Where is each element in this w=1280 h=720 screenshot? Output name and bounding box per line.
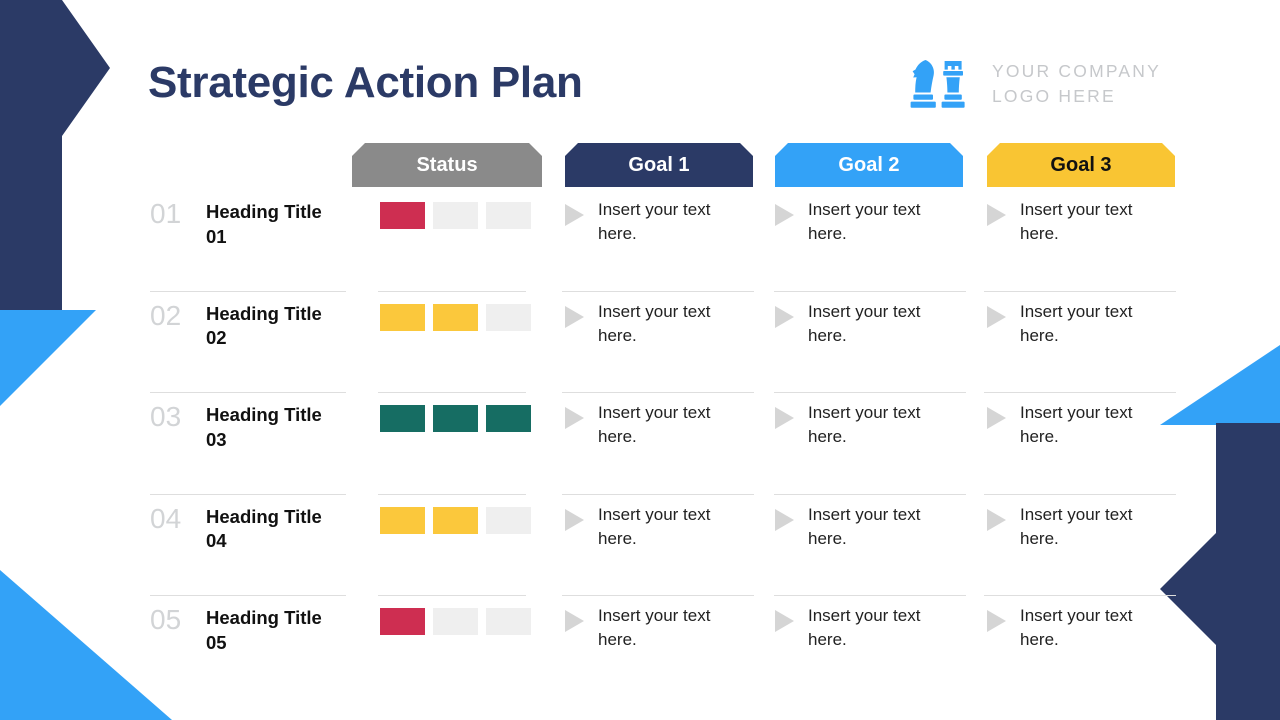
status-cell[interactable]: [433, 304, 478, 331]
goal-1-cell[interactable]: Insert your text here.: [565, 503, 730, 551]
column-header-status[interactable]: Status: [352, 143, 542, 187]
triangle-bullet-icon: [987, 509, 1006, 531]
goal-2-cell[interactable]: Insert your text here.: [775, 604, 940, 652]
row-number: 05: [150, 604, 202, 636]
status-indicator[interactable]: [380, 405, 531, 432]
triangle-bullet-icon: [987, 407, 1006, 429]
status-cell[interactable]: [380, 304, 425, 331]
goal-2-cell[interactable]: Insert your text here.: [775, 503, 940, 551]
goal-2-cell[interactable]: Insert your text here.: [775, 300, 940, 348]
goal-text: Insert your text here.: [1020, 401, 1152, 449]
goal-text: Insert your text here.: [598, 401, 730, 449]
triangle-bullet-icon: [565, 610, 584, 632]
status-cell[interactable]: [433, 507, 478, 534]
goal-text: Insert your text here.: [598, 503, 730, 551]
status-cell[interactable]: [433, 405, 478, 432]
status-cell[interactable]: [433, 608, 478, 635]
goal-text: Insert your text here.: [1020, 503, 1152, 551]
company-logo: YOUR COMPANY LOGO HERE: [908, 58, 1161, 110]
triangle-bullet-icon: [565, 509, 584, 531]
status-cell[interactable]: [380, 507, 425, 534]
logo-placeholder-text: YOUR COMPANY LOGO HERE: [992, 59, 1161, 110]
goal-text: Insert your text here.: [1020, 604, 1152, 652]
goal-3-cell[interactable]: Insert your text here.: [987, 604, 1152, 652]
chess-pieces-icon: [908, 58, 974, 110]
triangle-bullet-icon: [565, 306, 584, 328]
goal-1-cell[interactable]: Insert your text here.: [565, 300, 730, 348]
goal-text: Insert your text here.: [808, 198, 940, 246]
row-title: Heading Title 03: [206, 403, 346, 453]
goal-1-cell[interactable]: Insert your text here.: [565, 198, 730, 246]
status-cell[interactable]: [486, 202, 531, 229]
triangle-bullet-icon: [775, 204, 794, 226]
status-cell[interactable]: [486, 304, 531, 331]
row-title: Heading Title 05: [206, 606, 346, 656]
triangle-bullet-icon: [775, 407, 794, 429]
logo-text-line-2: LOGO HERE: [992, 84, 1161, 109]
column-header-goal-1[interactable]: Goal 1: [565, 143, 753, 187]
column-header-goal-2[interactable]: Goal 2: [775, 143, 963, 187]
goal-text: Insert your text here.: [1020, 300, 1152, 348]
status-indicator[interactable]: [380, 507, 531, 534]
column-header-goal-3[interactable]: Goal 3: [987, 143, 1175, 187]
triangle-bullet-icon: [775, 509, 794, 531]
row-title: Heading Title 02: [206, 302, 346, 352]
row-title: Heading Title 01: [206, 200, 346, 250]
status-indicator[interactable]: [380, 304, 531, 331]
triangle-bullet-icon: [987, 204, 1006, 226]
goal-3-cell[interactable]: Insert your text here.: [987, 198, 1152, 246]
goal-text: Insert your text here.: [808, 401, 940, 449]
goal-3-cell[interactable]: Insert your text here.: [987, 300, 1152, 348]
plan-rows: 01 Heading Title 01 Insert your text her…: [0, 190, 1280, 698]
row-number: 02: [150, 300, 202, 332]
table-row: 04 Heading Title 04 Insert your text her…: [0, 495, 1280, 597]
goal-2-cell[interactable]: Insert your text here.: [775, 401, 940, 449]
table-row: 03 Heading Title 03 Insert your text her…: [0, 393, 1280, 495]
status-cell[interactable]: [433, 202, 478, 229]
status-indicator[interactable]: [380, 202, 531, 229]
triangle-bullet-icon: [565, 204, 584, 226]
table-row: 05 Heading Title 05 Insert your text her…: [0, 596, 1280, 698]
row-number: 01: [150, 198, 202, 230]
row-title: Heading Title 04: [206, 505, 346, 555]
status-cell[interactable]: [380, 405, 425, 432]
status-cell[interactable]: [380, 608, 425, 635]
table-row: 01 Heading Title 01 Insert your text her…: [0, 190, 1280, 292]
goal-3-cell[interactable]: Insert your text here.: [987, 401, 1152, 449]
triangle-bullet-icon: [775, 610, 794, 632]
goal-text: Insert your text here.: [598, 198, 730, 246]
row-number: 04: [150, 503, 202, 535]
goal-text: Insert your text here.: [808, 604, 940, 652]
goal-text: Insert your text here.: [1020, 198, 1152, 246]
goal-2-cell[interactable]: Insert your text here.: [775, 198, 940, 246]
slide-canvas: Strategic Action Plan YOUR COM: [0, 0, 1280, 720]
triangle-bullet-icon: [987, 306, 1006, 328]
goal-text: Insert your text here.: [598, 604, 730, 652]
status-cell[interactable]: [380, 202, 425, 229]
table-row: 02 Heading Title 02 Insert your text her…: [0, 292, 1280, 394]
goal-1-cell[interactable]: Insert your text here.: [565, 604, 730, 652]
goal-text: Insert your text here.: [598, 300, 730, 348]
triangle-bullet-icon: [775, 306, 794, 328]
status-cell[interactable]: [486, 405, 531, 432]
logo-text-line-1: YOUR COMPANY: [992, 59, 1161, 84]
goal-text: Insert your text here.: [808, 503, 940, 551]
goal-text: Insert your text here.: [808, 300, 940, 348]
goal-1-cell[interactable]: Insert your text here.: [565, 401, 730, 449]
page-title: Strategic Action Plan: [148, 58, 583, 108]
row-number: 03: [150, 401, 202, 433]
goal-3-cell[interactable]: Insert your text here.: [987, 503, 1152, 551]
status-indicator[interactable]: [380, 608, 531, 635]
triangle-bullet-icon: [565, 407, 584, 429]
status-cell[interactable]: [486, 608, 531, 635]
status-cell[interactable]: [486, 507, 531, 534]
triangle-bullet-icon: [987, 610, 1006, 632]
